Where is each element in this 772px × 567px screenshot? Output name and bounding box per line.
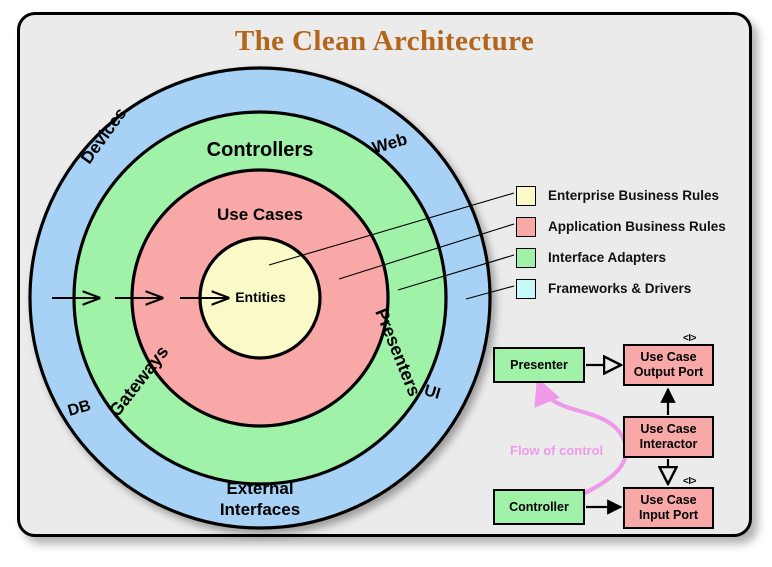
ring-label-controllers: Controllers (145, 139, 375, 162)
legend-item-frameworks-and-drivers: Frameworks & Drivers (516, 273, 726, 304)
uml-box-presenter-label: Presenter (510, 358, 568, 373)
uml-box-use-case-output-port: Use Case Output Port (623, 344, 714, 386)
external-interfaces-line-2: Interfaces (160, 499, 360, 520)
uml-box-presenter: Presenter (493, 347, 585, 383)
uci-line-1: Use Case (640, 422, 696, 436)
ucop-line-2: Output Port (634, 365, 703, 379)
legend-swatch-enterprise (516, 186, 536, 206)
legend-label-application: Application Business Rules (548, 219, 726, 234)
legend-label-interface-adapters: Interface Adapters (548, 250, 666, 265)
legend-item-interface-adapters: Interface Adapters (516, 242, 726, 273)
ucip-line-2: Input Port (639, 508, 698, 522)
external-interfaces-line-1: External (160, 478, 360, 499)
uml-box-use-case-input-port: Use Case Input Port (623, 487, 714, 529)
legend-item-enterprise-business-rules: Enterprise Business Rules (516, 180, 726, 211)
legend-swatch-interface-adapters (516, 248, 536, 268)
flow-of-control-label: Flow of control (510, 443, 603, 458)
ring-label-external-interfaces: External Interfaces (160, 478, 360, 521)
legend-label-frameworks: Frameworks & Drivers (548, 281, 691, 296)
ucop-line-1: Use Case (640, 350, 696, 364)
uml-box-controller: Controller (493, 489, 585, 525)
legend-swatch-frameworks (516, 279, 536, 299)
ring-label-use-cases: Use Cases (160, 205, 360, 225)
interface-stereotype-output-port: <I> (683, 333, 696, 344)
uci-line-2: Interactor (640, 437, 698, 451)
uml-box-controller-label: Controller (509, 500, 569, 515)
legend-label-enterprise: Enterprise Business Rules (548, 188, 719, 203)
ucip-line-1: Use Case (640, 493, 696, 507)
legend-swatch-application (516, 217, 536, 237)
diagram-canvas: The Clean Architecture (0, 0, 772, 567)
legend-item-application-business-rules: Application Business Rules (516, 211, 726, 242)
uml-box-use-case-interactor: Use Case Interactor (623, 416, 714, 458)
ring-label-entities: Entities (198, 289, 323, 305)
legend: Enterprise Business Rules Application Bu… (516, 180, 726, 304)
interface-stereotype-input-port: <I> (683, 476, 696, 487)
